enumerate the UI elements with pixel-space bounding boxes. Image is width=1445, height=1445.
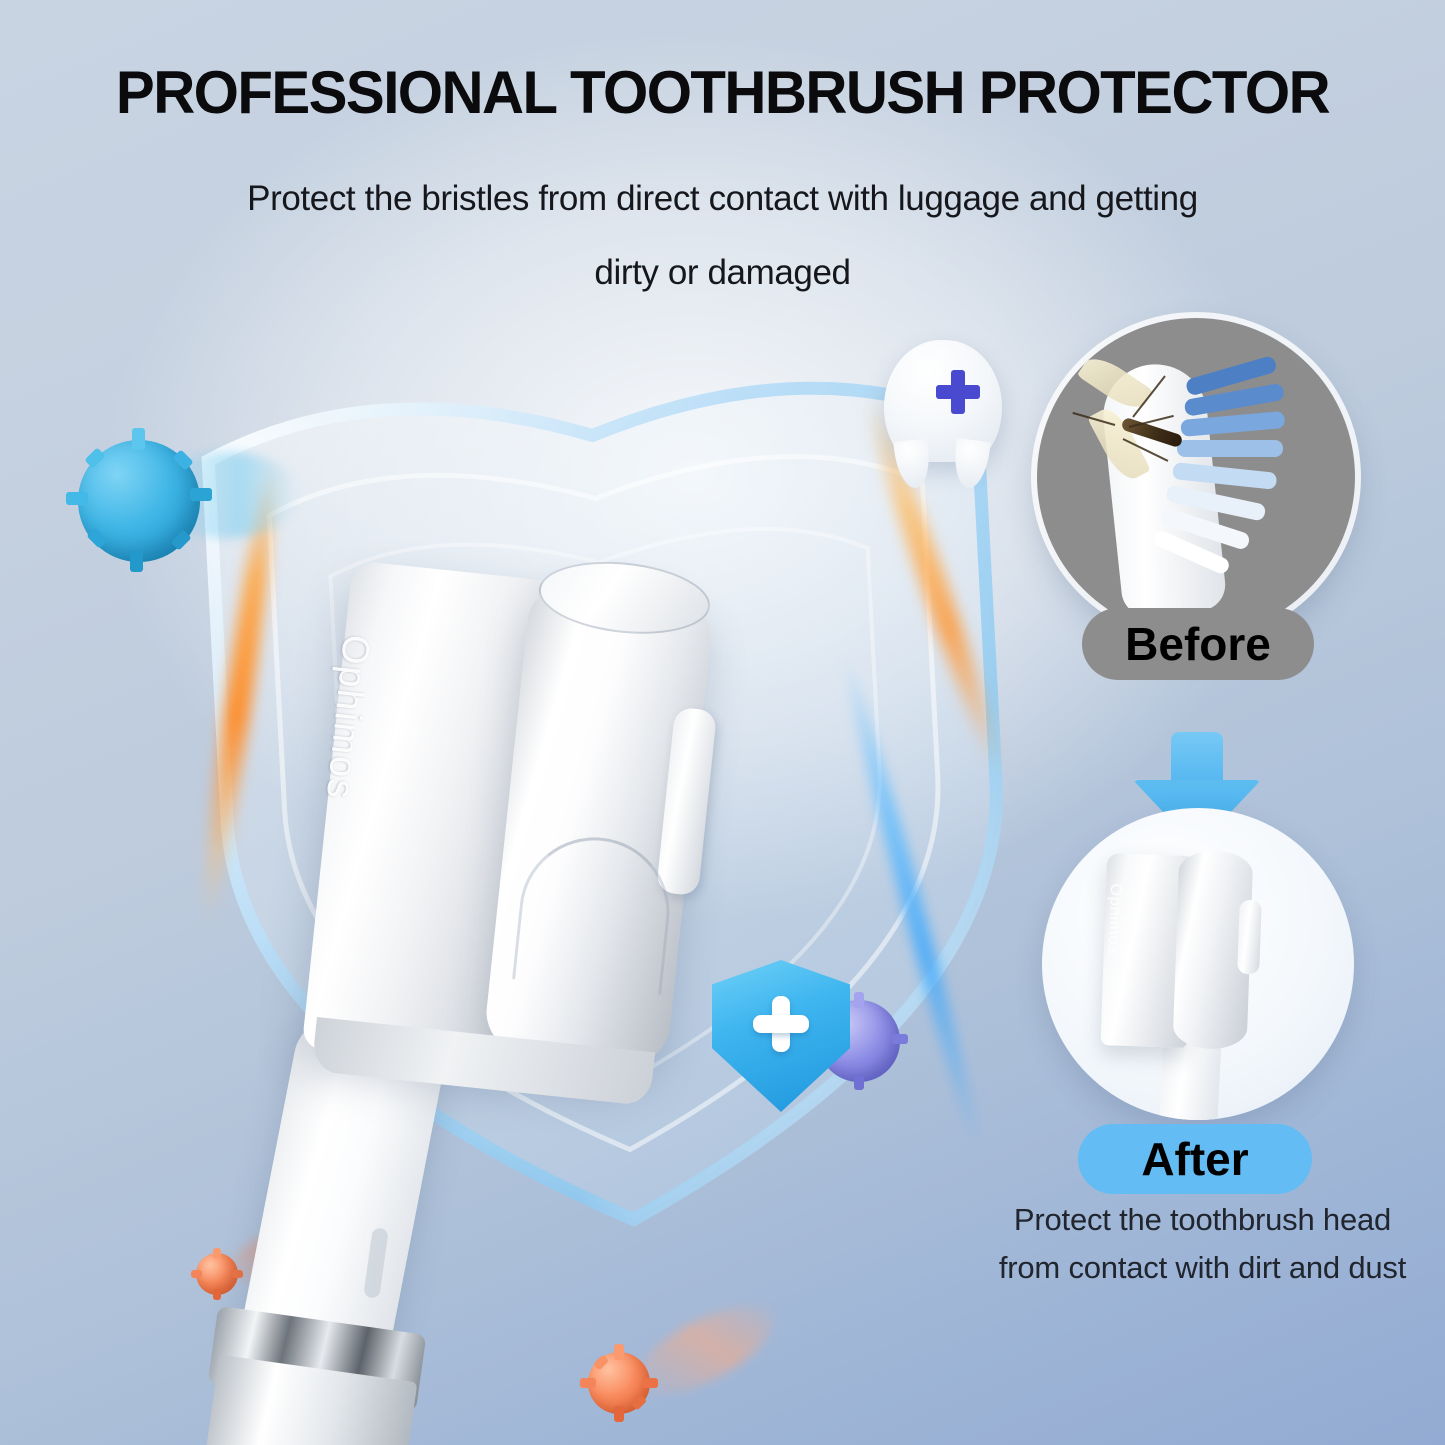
subtitle-line-1: Protect the bristles from direct contact… [133,162,1313,236]
after-product-clip [1237,900,1262,975]
virus-spike [642,1378,658,1388]
badge-cross-icon [753,996,809,1052]
virus-spike [892,1034,908,1044]
virus-spike [854,992,864,1008]
white-electric-toothbrush [150,1020,460,1445]
subtitle-line-2: dirty or damaged [133,236,1313,310]
orange-virus-particle [588,1352,650,1414]
after-product-cap: Ophimos [1101,847,1276,1051]
before-label-pill: Before [1082,608,1314,680]
shield-cross-badge [712,960,850,1112]
virus-spike [130,550,143,572]
mosquito-icon [1061,354,1191,504]
after-caption-line-1: Protect the toothbrush head [960,1196,1445,1244]
mosquito-wing [1087,403,1151,485]
before-label-text: Before [1125,617,1271,671]
virus-spike [132,428,145,450]
virus-spike [854,1074,864,1090]
bristle [1177,440,1283,457]
after-caption-line-2: from contact with dirt and dust [960,1244,1445,1292]
virus-spike [614,1344,624,1360]
product-marketing-image: PROFESSIONAL TOOTHBRUSH PROTECTOR Protec… [0,0,1445,1445]
after-caption: Protect the toothbrush head from contact… [960,1196,1445,1292]
tooth-with-cross-icon [884,340,1002,462]
virus-spike [66,492,88,505]
toothbrush-protector-product: Ophimos [291,542,764,1113]
medical-cross-icon [936,370,980,414]
after-label-pill: After [1078,1124,1312,1194]
page-title: PROFESSIONAL TOOTHBRUSH PROTECTOR [22,58,1424,127]
after-image-circle: Ophimos [1042,808,1354,1120]
germ-motion-trail-orange-2 [625,1288,786,1411]
after-label-text: After [1141,1132,1248,1186]
page-subtitle: Protect the bristles from direct contact… [133,162,1313,310]
virus-spike [580,1378,596,1388]
blue-virus-particle [78,440,200,562]
before-image-circle [1037,318,1355,636]
virus-spike [614,1406,624,1422]
virus-spike [190,488,212,501]
